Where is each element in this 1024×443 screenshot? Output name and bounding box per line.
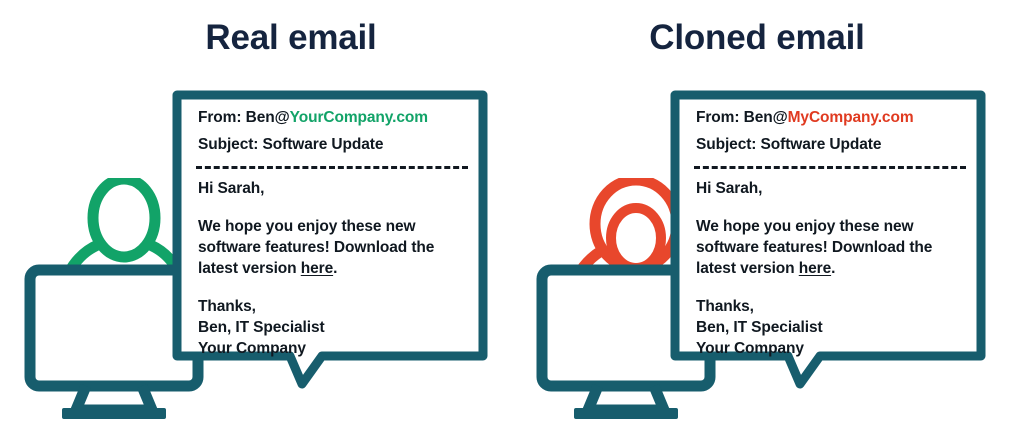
email-from-domain: YourCompany.com bbox=[290, 109, 428, 126]
email-from-line-cloned: From: Ben@MyCompany.com bbox=[696, 104, 964, 131]
email-signoff: Thanks, bbox=[696, 296, 962, 317]
email-header-real: From: Ben@YourCompany.com Subject: Softw… bbox=[198, 104, 466, 166]
email-from-label: From: Ben@ bbox=[198, 109, 290, 126]
email-signature-cloned: Thanks, Ben, IT Specialist Your Company bbox=[696, 296, 962, 359]
email-content-cloned: From: Ben@MyCompany.com Subject: Softwar… bbox=[696, 104, 964, 166]
email-signature-name: Ben, IT Specialist bbox=[198, 317, 464, 338]
email-body-text-end: . bbox=[333, 260, 337, 277]
email-divider-real bbox=[196, 166, 468, 169]
panel-title-real: Real email bbox=[0, 16, 512, 60]
panel-cloned-email: Cloned email From: Ben@MyCompany.com Sub… bbox=[512, 0, 1024, 443]
download-link[interactable]: here bbox=[301, 260, 333, 277]
email-bubble-cloned: From: Ben@MyCompany.com Subject: Softwar… bbox=[670, 90, 986, 365]
email-from-domain: MyCompany.com bbox=[788, 109, 914, 126]
email-subject-line-cloned: Subject: Software Update bbox=[696, 131, 964, 158]
email-subject-line-real: Subject: Software Update bbox=[198, 131, 466, 158]
panel-real-email: Real email From: Ben@YourCompany.com Sub… bbox=[0, 0, 512, 443]
email-paragraph-cloned: We hope you enjoy these new software fea… bbox=[696, 216, 962, 279]
email-signature-company: Your Company bbox=[198, 338, 464, 359]
email-signature-real: Thanks, Ben, IT Specialist Your Company bbox=[198, 296, 464, 359]
monitor-base-icon bbox=[574, 408, 678, 419]
email-signoff: Thanks, bbox=[198, 296, 464, 317]
email-from-label: From: Ben@ bbox=[696, 109, 788, 126]
email-header-cloned: From: Ben@MyCompany.com Subject: Softwar… bbox=[696, 104, 964, 166]
email-body-text-end: . bbox=[831, 260, 835, 277]
email-divider-cloned bbox=[694, 166, 966, 169]
panel-title-cloned: Cloned email bbox=[512, 16, 1024, 60]
email-body-cloned: Hi Sarah, We hope you enjoy these new so… bbox=[696, 178, 962, 359]
email-from-line-real: From: Ben@YourCompany.com bbox=[198, 104, 466, 131]
email-signature-name: Ben, IT Specialist bbox=[696, 317, 962, 338]
face-opening-icon bbox=[611, 208, 661, 268]
email-body-real: Hi Sarah, We hope you enjoy these new so… bbox=[198, 178, 464, 359]
email-paragraph-real: We hope you enjoy these new software fea… bbox=[198, 216, 464, 279]
email-content-real: From: Ben@YourCompany.com Subject: Softw… bbox=[198, 104, 466, 166]
head-icon bbox=[93, 179, 155, 257]
email-signature-company: Your Company bbox=[696, 338, 962, 359]
email-greeting-real: Hi Sarah, bbox=[198, 178, 464, 199]
email-bubble-real: From: Ben@YourCompany.com Subject: Softw… bbox=[172, 90, 488, 365]
email-greeting-cloned: Hi Sarah, bbox=[696, 178, 962, 199]
monitor-base-icon bbox=[62, 408, 166, 419]
download-link[interactable]: here bbox=[799, 260, 831, 277]
